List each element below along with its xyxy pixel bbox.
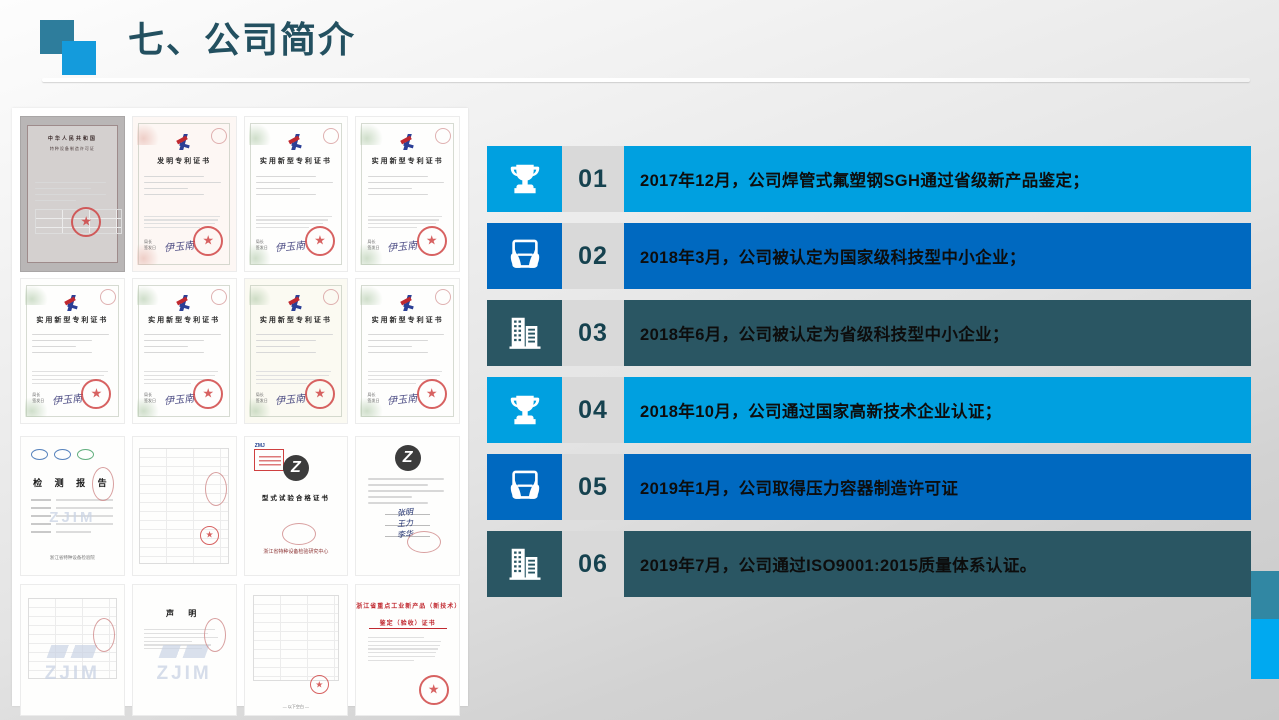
certificate-image-11[interactable]: ZMJ Z 型式试验合格证书 浙江省特种设备检验研究中心	[244, 436, 349, 576]
timeline-row[interactable]: 06 2019年7月，公司通过ISO9001:2015质量体系认证。	[487, 531, 1251, 597]
cert-3-title: 实用新型专利证书	[245, 156, 348, 166]
gallery-row: 实用新型专利证书 伊玉南局长签发日 实用新型专利证书 伊玉南局长签发日 实用新型…	[20, 278, 460, 424]
certificate-image-6[interactable]: 实用新型专利证书 伊玉南局长签发日	[132, 278, 237, 424]
cert-1-subtitle: 特种设备制造许可证	[21, 146, 124, 152]
certificate-image-3[interactable]: 实用新型专利证书 伊玉南局长签发日	[244, 116, 349, 272]
timeline-text: 2019年1月，公司取得压力容器制造许可证	[624, 454, 1251, 520]
building-icon	[487, 300, 562, 366]
certificate-image-9[interactable]: 检 测 报 告 ZJIM 浙江省特种设备检验院	[20, 436, 125, 576]
cert-14-title: 声 明	[133, 608, 236, 619]
gallery-row: 检 测 报 告 ZJIM 浙江省特种设备检验院 ZMJ Z 型式试验合格证书 浙…	[20, 436, 460, 576]
cert-2-title: 发明专利证书	[133, 156, 236, 166]
decor-edge-teal	[1251, 571, 1279, 619]
timeline-number: 06	[562, 531, 624, 597]
cert-11-subtitle: 浙江省特种设备检验研究中心	[245, 548, 348, 556]
cert-6-title: 实用新型专利证书	[133, 315, 236, 325]
tablet-hands-icon	[487, 454, 562, 520]
certificate-image-8[interactable]: 实用新型专利证书 伊玉南局长签发日	[355, 278, 460, 424]
timeline-row[interactable]: 02 2018年3月，公司被认定为国家级科技型中小企业；	[487, 223, 1251, 289]
trophy-icon	[487, 377, 562, 443]
trophy-icon	[487, 146, 562, 212]
certificate-image-13[interactable]: ZJIM	[20, 584, 125, 716]
timeline-text: 2018年3月，公司被认定为国家级科技型中小企业；	[624, 223, 1251, 289]
building-icon	[487, 531, 562, 597]
cert-16-title: 浙江省重点工业新产品（新技术）	[356, 602, 459, 613]
cert-1-title: 中华人民共和国	[21, 135, 124, 143]
cert-7-title: 实用新型专利证书	[245, 315, 348, 325]
cert-4-title: 实用新型专利证书	[356, 156, 459, 166]
gallery-row: 中华人民共和国 特种设备制造许可证 发明专利证书 伊玉南局长签发日 实用新型专利…	[20, 116, 460, 272]
timeline-number: 03	[562, 300, 624, 366]
cert-5-title: 实用新型专利证书	[21, 315, 124, 325]
cert-8-title: 实用新型专利证书	[356, 315, 459, 325]
timeline-number: 02	[562, 223, 624, 289]
decor-square-light	[62, 41, 96, 75]
achievements-timeline: 01 2017年12月，公司焊管式氟塑钢SGH通过省级新产品鉴定； 02 201…	[487, 146, 1251, 608]
gallery-row: ZJIM 声 明 ZJIM — 以下空白 — 浙江省重点工业新产品（新技术） 鉴…	[20, 584, 460, 716]
certificate-image-5[interactable]: 实用新型专利证书 伊玉南局长签发日	[20, 278, 125, 424]
timeline-number: 04	[562, 377, 624, 443]
timeline-text: 2018年6月，公司被认定为省级科技型中小企业；	[624, 300, 1251, 366]
certificate-image-15[interactable]: — 以下空白 —	[244, 584, 349, 716]
title-divider	[42, 78, 1250, 82]
watermark-text: ZJIM	[156, 663, 211, 685]
timeline-text: 2017年12月，公司焊管式氟塑钢SGH通过省级新产品鉴定；	[624, 146, 1251, 212]
certificate-image-10[interactable]	[132, 436, 237, 576]
watermark-text: ZJIM	[45, 663, 100, 685]
certificate-image-7[interactable]: 实用新型专利证书 伊玉南局长签发日	[244, 278, 349, 424]
cert-9-subtitle: 浙江省特种设备检验院	[21, 554, 124, 561]
cert-11-title: 型式试验合格证书	[245, 492, 348, 505]
certificate-image-4[interactable]: 实用新型专利证书 伊玉南局长签发日	[355, 116, 460, 272]
timeline-text: 2019年7月，公司通过ISO9001:2015质量体系认证。	[624, 531, 1251, 597]
timeline-text: 2018年10月，公司通过国家高新技术企业认证；	[624, 377, 1251, 443]
certificate-image-16[interactable]: 浙江省重点工业新产品（新技术） 鉴定（验收）证书	[355, 584, 460, 716]
certificate-image-14[interactable]: 声 明 ZJIM	[132, 584, 237, 716]
decor-edge-cyan	[1251, 619, 1279, 679]
timeline-row[interactable]: 04 2018年10月，公司通过国家高新技术企业认证；	[487, 377, 1251, 443]
certificate-image-2[interactable]: 发明专利证书 伊玉南局长签发日	[132, 116, 237, 272]
timeline-row[interactable]: 01 2017年12月，公司焊管式氟塑钢SGH通过省级新产品鉴定；	[487, 146, 1251, 212]
certificate-image-1[interactable]: 中华人民共和国 特种设备制造许可证	[20, 116, 125, 272]
timeline-number: 05	[562, 454, 624, 520]
timeline-number: 01	[562, 146, 624, 212]
tablet-hands-icon	[487, 223, 562, 289]
slide-header: 七、公司简介	[0, 0, 1279, 96]
page-title: 七、公司简介	[128, 17, 356, 63]
certificate-gallery: 中华人民共和国 特种设备制造许可证 发明专利证书 伊玉南局长签发日 实用新型专利…	[12, 108, 468, 706]
certificate-image-12[interactable]: Z 张明 王力 李华	[355, 436, 460, 576]
timeline-row[interactable]: 05 2019年1月，公司取得压力容器制造许可证	[487, 454, 1251, 520]
timeline-row[interactable]: 03 2018年6月，公司被认定为省级科技型中小企业；	[487, 300, 1251, 366]
